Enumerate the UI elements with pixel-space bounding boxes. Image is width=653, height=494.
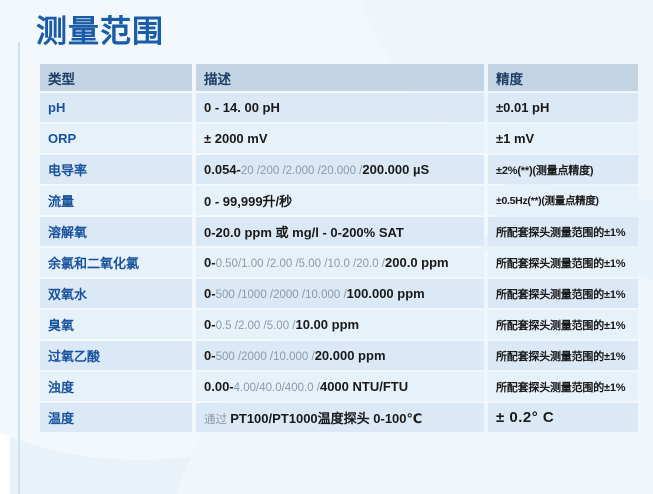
cell-accuracy: 所配套探头测量范围的±1% [488, 279, 638, 308]
desc-primary: ± 2000 mV [204, 131, 268, 146]
cell-type: 流量 [40, 186, 192, 215]
cell-description: 0.00-4.00/40.0/400.0 /4000 NTU/FTU [196, 372, 484, 401]
desc-secondary-ranges: 500 /2000 /10.000 / [216, 351, 315, 363]
table-header: 类型 描述 精度 [40, 64, 638, 91]
column-header-description: 描述 [196, 64, 484, 91]
cell-type: 过氧乙酸 [40, 341, 192, 370]
cell-description: 0-0.5 /2.00 /5.00 /10.00 ppm [196, 310, 484, 339]
table-row: 流量0 - 99,999升/秒±0.5Hz(**)(测量点精度) [40, 186, 638, 215]
table-row: 臭氧0-0.5 /2.00 /5.00 /10.00 ppm所配套探头测量范围的… [40, 310, 638, 339]
cell-description: 0-500 /2000 /10.000 /20.000 ppm [196, 341, 484, 370]
measurement-range-table: 类型 描述 精度 pH0 - 14. 00 pH±0.01 pHORP± 200… [36, 62, 642, 434]
cell-type: ORP [40, 124, 192, 153]
desc-secondary-ranges: 0.5 /2.00 /5.00 / [216, 320, 296, 332]
table-row: 电导率0.054-20 /200 /2.000 /20.000 /200.000… [40, 155, 638, 184]
table-row: ORP± 2000 mV±1 mV [40, 124, 638, 153]
desc-primary: 0- [204, 317, 216, 332]
cell-accuracy: 所配套探头测量范围的±1% [488, 248, 638, 277]
cell-type: 浊度 [40, 372, 192, 401]
cell-description: 0.054-20 /200 /2.000 /20.000 /200.000 µS [196, 155, 484, 184]
desc-primary: 0- [204, 286, 216, 301]
desc-primary: 0-20.0 ppm 或 mg/l - 0-200% SAT [204, 225, 404, 240]
table-row: pH0 - 14. 00 pH±0.01 pH [40, 93, 638, 122]
cell-description: 通过 PT100/PT1000温度探头 0-100℃ [196, 403, 484, 432]
spec-page: 测量范围 类型 描述 精度 pH0 - 14. 00 pH±0.01 pHORP… [0, 0, 653, 494]
desc-max-range: 200.0 ppm [385, 255, 449, 270]
desc-secondary-ranges: 0.50/1.00 /2.00 /5.00 /10.0 /20.0 / [216, 258, 385, 270]
table-row: 过氧乙酸0-500 /2000 /10.000 /20.000 ppm所配套探头… [40, 341, 638, 370]
desc-max-range: 4000 NTU/FTU [320, 379, 408, 394]
desc-primary: 0- [204, 348, 216, 363]
cell-accuracy: 所配套探头测量范围的±1% [488, 341, 638, 370]
cell-type: 双氧水 [40, 279, 192, 308]
page-title: 测量范围 [36, 12, 164, 52]
cell-description: 0 - 14. 00 pH [196, 93, 484, 122]
table-header-row: 类型 描述 精度 [40, 64, 638, 91]
desc-secondary-ranges: 4.00/40.0/400.0 / [234, 382, 320, 394]
cell-type: 余氯和二氧化氯 [40, 248, 192, 277]
cell-description: 0-500 /1000 /2000 /10.000 /100.000 ppm [196, 279, 484, 308]
cell-accuracy: ±2%(**)(测量点精度) [488, 155, 638, 184]
cell-type: 电导率 [40, 155, 192, 184]
desc-secondary-ranges: 通过 [204, 414, 230, 426]
cell-accuracy: 所配套探头测量范围的±1% [488, 372, 638, 401]
table-row: 温度通过 PT100/PT1000温度探头 0-100℃± 0.2° C [40, 403, 638, 432]
cell-accuracy: ±0.5Hz(**)(测量点精度) [488, 186, 638, 215]
desc-secondary-ranges: 500 /1000 /2000 /10.000 / [216, 289, 347, 301]
cell-description: 0-0.50/1.00 /2.00 /5.00 /10.0 /20.0 /200… [196, 248, 484, 277]
table-body: pH0 - 14. 00 pH±0.01 pHORP± 2000 mV±1 mV… [40, 93, 638, 432]
cell-accuracy: ± 0.2° C [488, 403, 638, 432]
desc-primary: 0 - 99,999升/秒 [204, 194, 292, 209]
column-header-type: 类型 [40, 64, 192, 91]
desc-primary: 0 - 14. 00 pH [204, 100, 280, 115]
desc-max-range: 200.000 µS [362, 162, 429, 177]
desc-max-range: 100.000 ppm [347, 286, 425, 301]
cell-type: pH [40, 93, 192, 122]
cell-type: 臭氧 [40, 310, 192, 339]
desc-primary: 0.00- [204, 379, 234, 394]
column-header-accuracy: 精度 [488, 64, 638, 91]
desc-secondary-ranges: 20 /200 /2.000 /20.000 / [241, 165, 363, 177]
desc-max-range: 10.00 ppm [295, 317, 359, 332]
table-row: 双氧水0-500 /1000 /2000 /10.000 /100.000 pp… [40, 279, 638, 308]
cell-accuracy: ±0.01 pH [488, 93, 638, 122]
cell-type: 温度 [40, 403, 192, 432]
desc-primary: 0.054- [204, 162, 241, 177]
cell-accuracy: ±1 mV [488, 124, 638, 153]
table-row: 溶解氧0-20.0 ppm 或 mg/l - 0-200% SAT所配套探头测量… [40, 217, 638, 246]
cell-description: ± 2000 mV [196, 124, 484, 153]
cell-accuracy: 所配套探头测量范围的±1% [488, 310, 638, 339]
table-row: 浊度0.00-4.00/40.0/400.0 /4000 NTU/FTU所配套探… [40, 372, 638, 401]
desc-primary: 0- [204, 255, 216, 270]
cell-description: 0-20.0 ppm 或 mg/l - 0-200% SAT [196, 217, 484, 246]
cell-type: 溶解氧 [40, 217, 192, 246]
table-row: 余氯和二氧化氯0-0.50/1.00 /2.00 /5.00 /10.0 /20… [40, 248, 638, 277]
cell-description: 0 - 99,999升/秒 [196, 186, 484, 215]
cell-accuracy: 所配套探头测量范围的±1% [488, 217, 638, 246]
desc-max-range: PT100/PT1000温度探头 0-100℃ [230, 411, 422, 426]
desc-max-range: 20.000 ppm [315, 348, 386, 363]
